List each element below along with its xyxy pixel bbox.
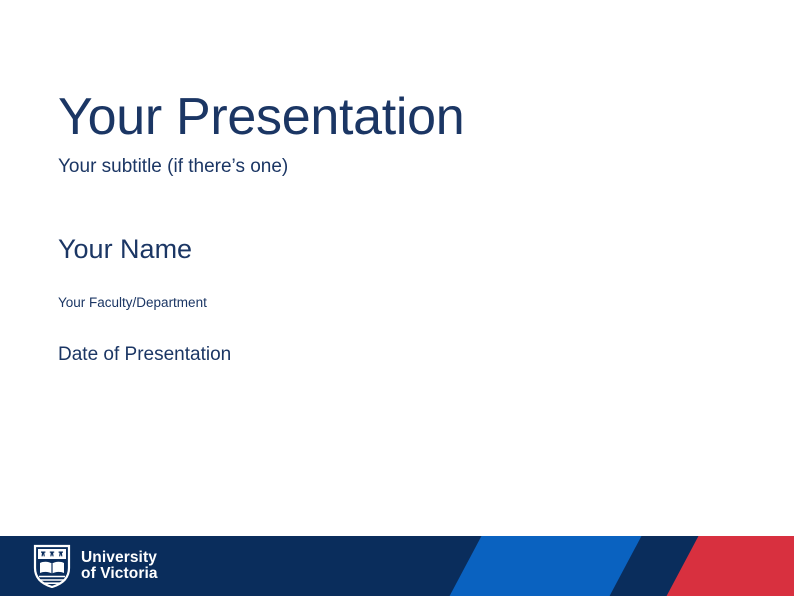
title-text-block: Your Presentation Your subtitle (if ther… xyxy=(58,88,738,366)
uvic-logo: University of Victoria xyxy=(32,544,158,588)
slide-footer-band: University of Victoria xyxy=(0,536,794,596)
presenter-department: Your Faculty/Department xyxy=(58,295,738,311)
uvic-shield-crest-icon xyxy=(32,544,72,588)
presenter-name: Your Name xyxy=(58,233,738,265)
presentation-date: Date of Presentation xyxy=(58,344,738,367)
wordmark-line-1: University xyxy=(81,550,158,566)
slide-subtitle: Your subtitle (if there’s one) xyxy=(58,156,738,179)
uvic-wordmark: University of Victoria xyxy=(81,550,158,583)
page-title: Your Presentation xyxy=(58,88,738,146)
wordmark-line-2: of Victoria xyxy=(81,566,158,582)
presentation-title-slide: Your Presentation Your subtitle (if ther… xyxy=(0,0,794,596)
